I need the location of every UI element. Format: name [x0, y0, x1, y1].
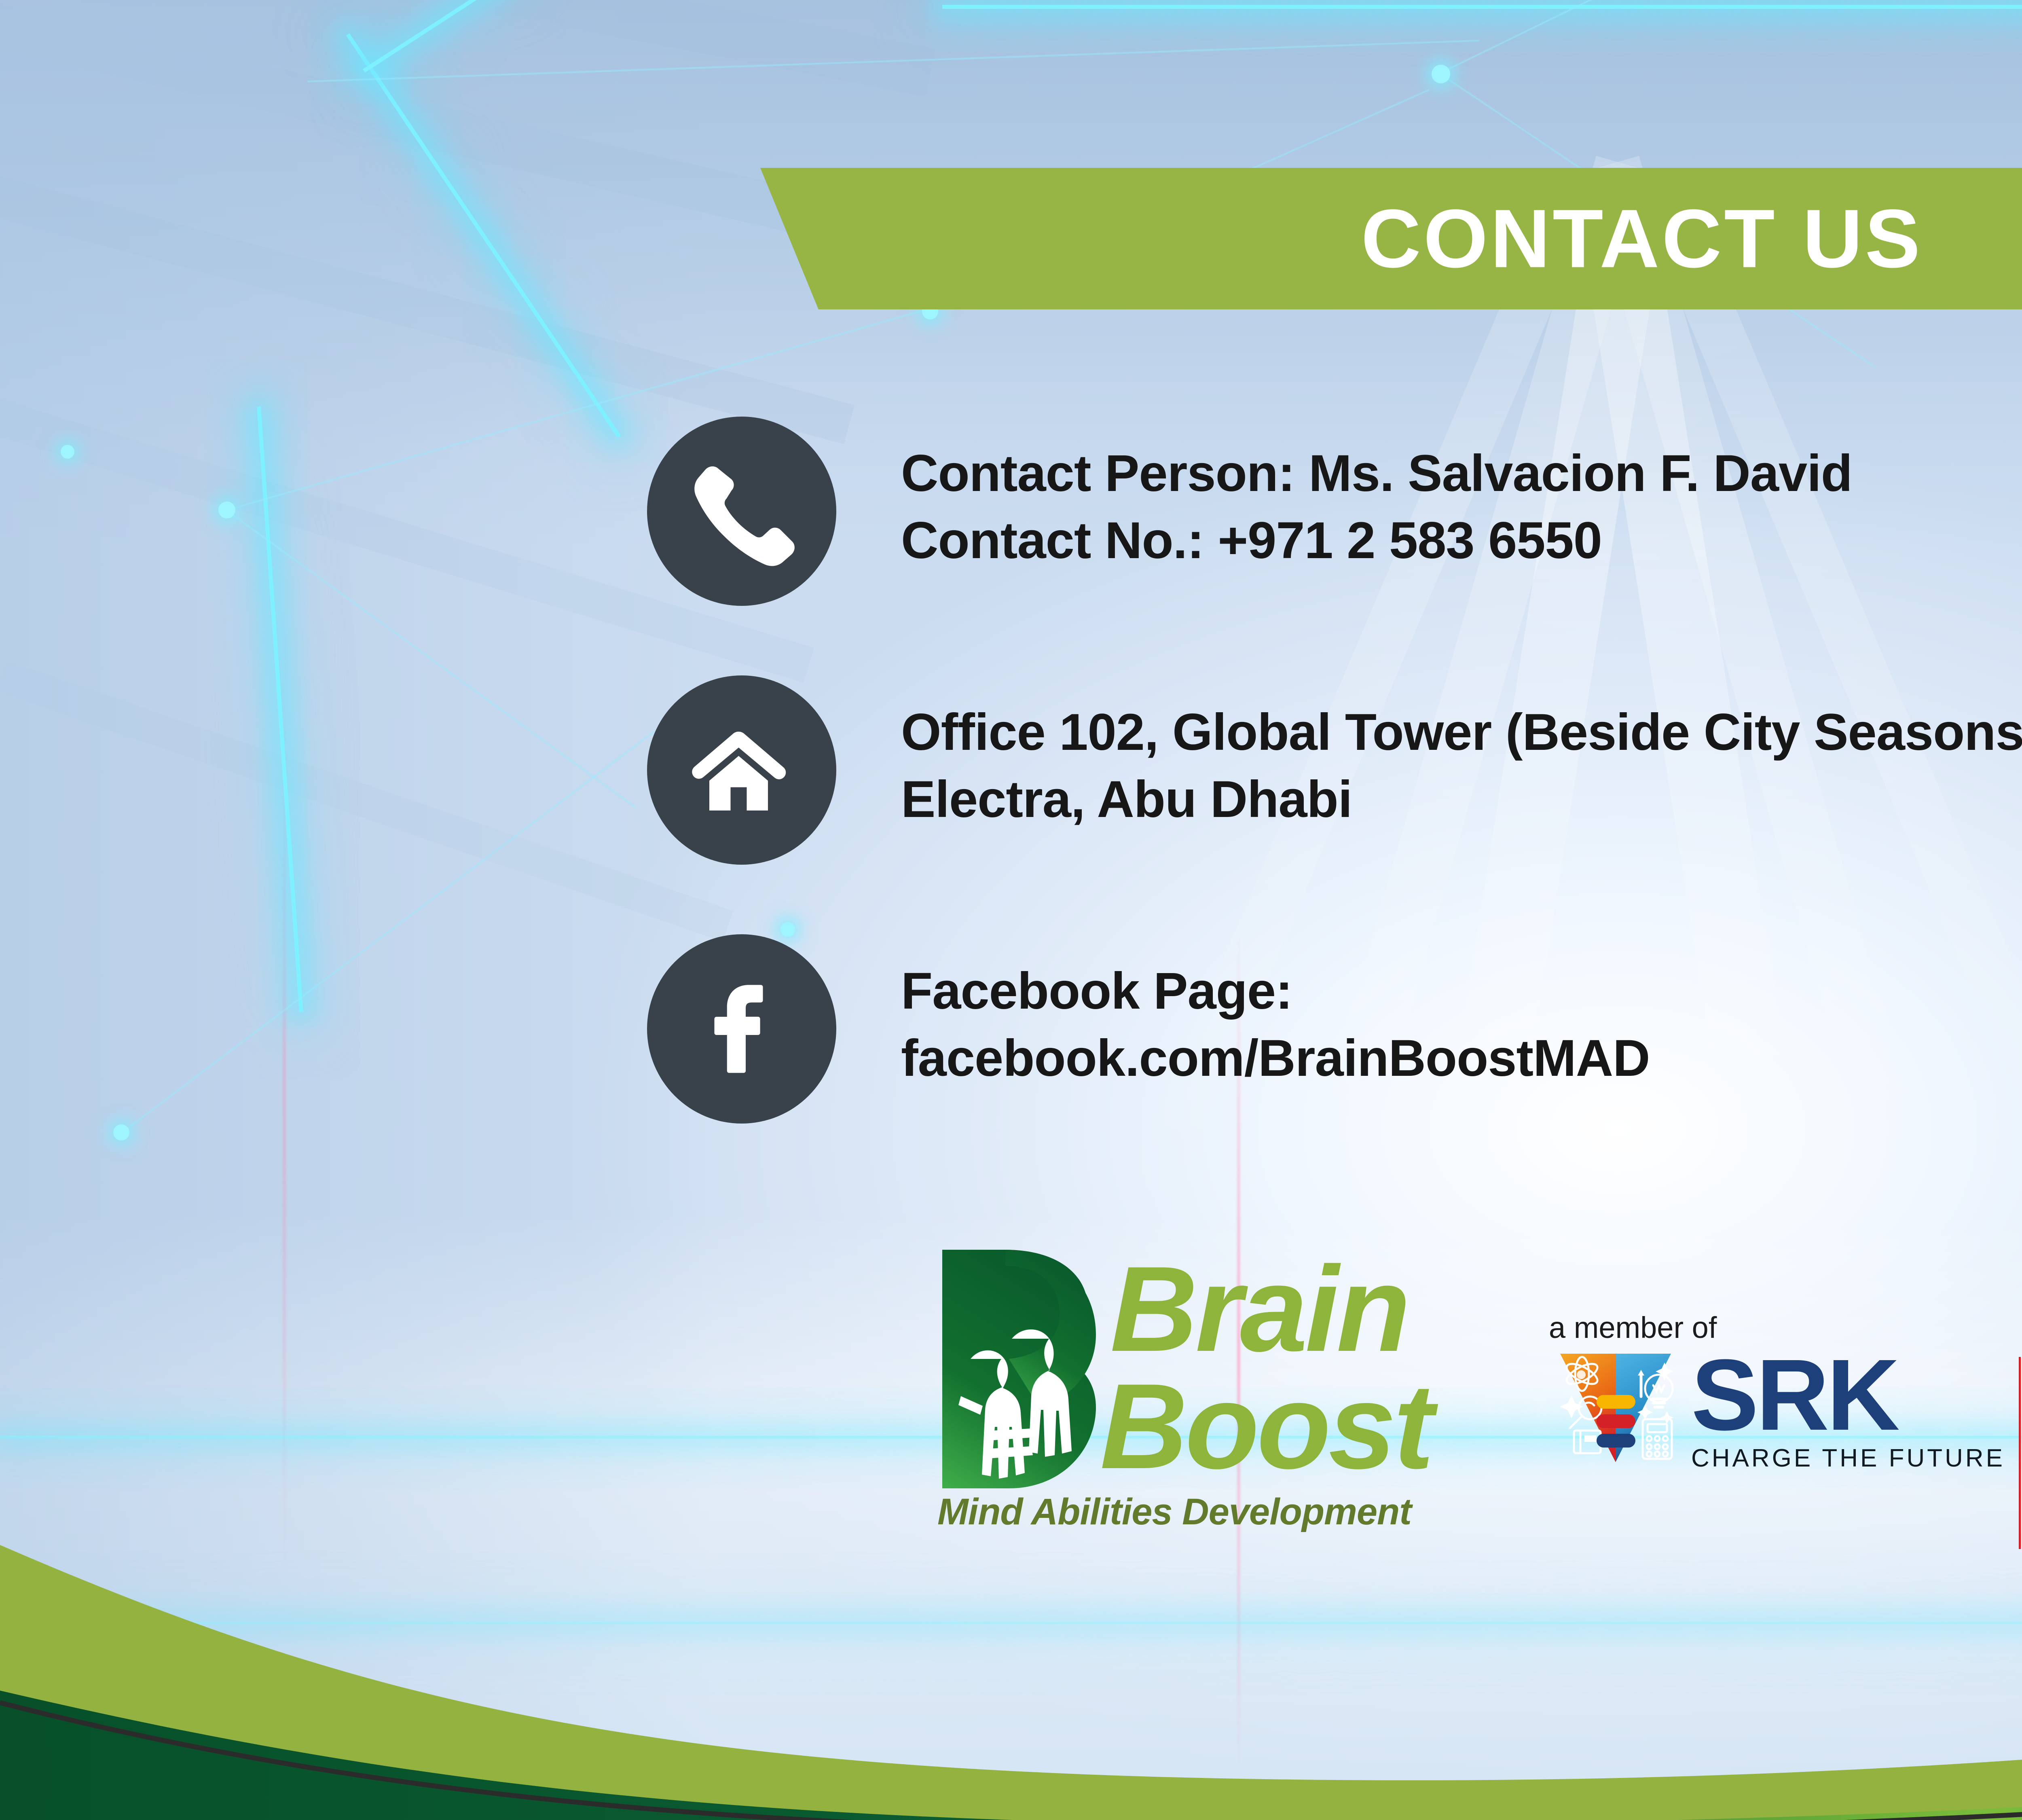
contact-person-line: Contact Person: Ms. Salvacion F. David — [901, 440, 1852, 507]
contact-row-phone-text: Contact Person: Ms. Salvacion F. David C… — [901, 417, 1852, 575]
contact-row-facebook-text: Facebook Page: facebook.com/BrainBoostMA… — [901, 934, 1650, 1092]
brain-boost-logo: Brain Boost Mind Abilities Development — [926, 1238, 1500, 1533]
address-line-2: Electra, Abu Dhabi — [901, 766, 2022, 833]
contact-row-address: Office 102, Global Tower (Beside City Se… — [647, 675, 2022, 865]
bottom-wave-decor — [0, 1513, 2022, 1820]
contact-us-banner: CONTACT US — [760, 168, 2022, 309]
facebook-url[interactable]: facebook.com/BrainBoostMAD — [901, 1025, 1650, 1092]
cyan-arch-top — [942, 5, 2022, 9]
contact-number-line: Contact No.: +971 2 583 6550 — [901, 507, 1852, 574]
contact-row-facebook: Facebook Page: facebook.com/BrainBoostMA… — [647, 934, 2022, 1124]
facebook-label: Facebook Page: — [901, 958, 1650, 1025]
srk-emblem — [1549, 1351, 1682, 1467]
srk-wordmark: SRK — [1691, 1351, 2005, 1438]
contact-row-phone: Contact Person: Ms. Salvacion F. David C… — [647, 417, 2022, 606]
page-title: CONTACT US — [760, 197, 2022, 280]
srk-slogan: CHARGE THE FUTURE — [1691, 1444, 2005, 1473]
svg-text:Brain: Brain — [1110, 1241, 1408, 1377]
svg-text:Boost: Boost — [1100, 1358, 1439, 1494]
contact-row-address-text: Office 102, Global Tower (Beside City Se… — [901, 675, 2022, 834]
logo-strip: Brain Boost Mind Abilities Development a… — [926, 1238, 2022, 1549]
srk-logo: a member of — [1549, 1238, 2022, 1549]
address-line-1: Office 102, Global Tower (Beside City Se… — [901, 699, 2022, 766]
facebook-icon[interactable] — [647, 934, 836, 1124]
network-node-8 — [61, 445, 74, 459]
network-node-4 — [113, 1124, 129, 1141]
home-icon[interactable] — [647, 675, 836, 865]
brain-boost-mark: Brain Boost — [926, 1238, 1500, 1496]
contact-info-list: Contact Person: Ms. Salvacion F. David C… — [647, 417, 2022, 1124]
phone-icon[interactable] — [647, 417, 836, 606]
slide-root: CONTACT US Contact Person: Ms. Salvacion… — [0, 0, 2022, 1820]
srk-wordmark-block: SRK CHARGE THE FUTURE — [1691, 1351, 2005, 1473]
srk-emblem-and-wordmark: SRK CHARGE THE FUTURE — [1549, 1351, 2005, 1473]
network-node-3 — [218, 502, 235, 518]
network-node-1 — [1432, 65, 1450, 83]
